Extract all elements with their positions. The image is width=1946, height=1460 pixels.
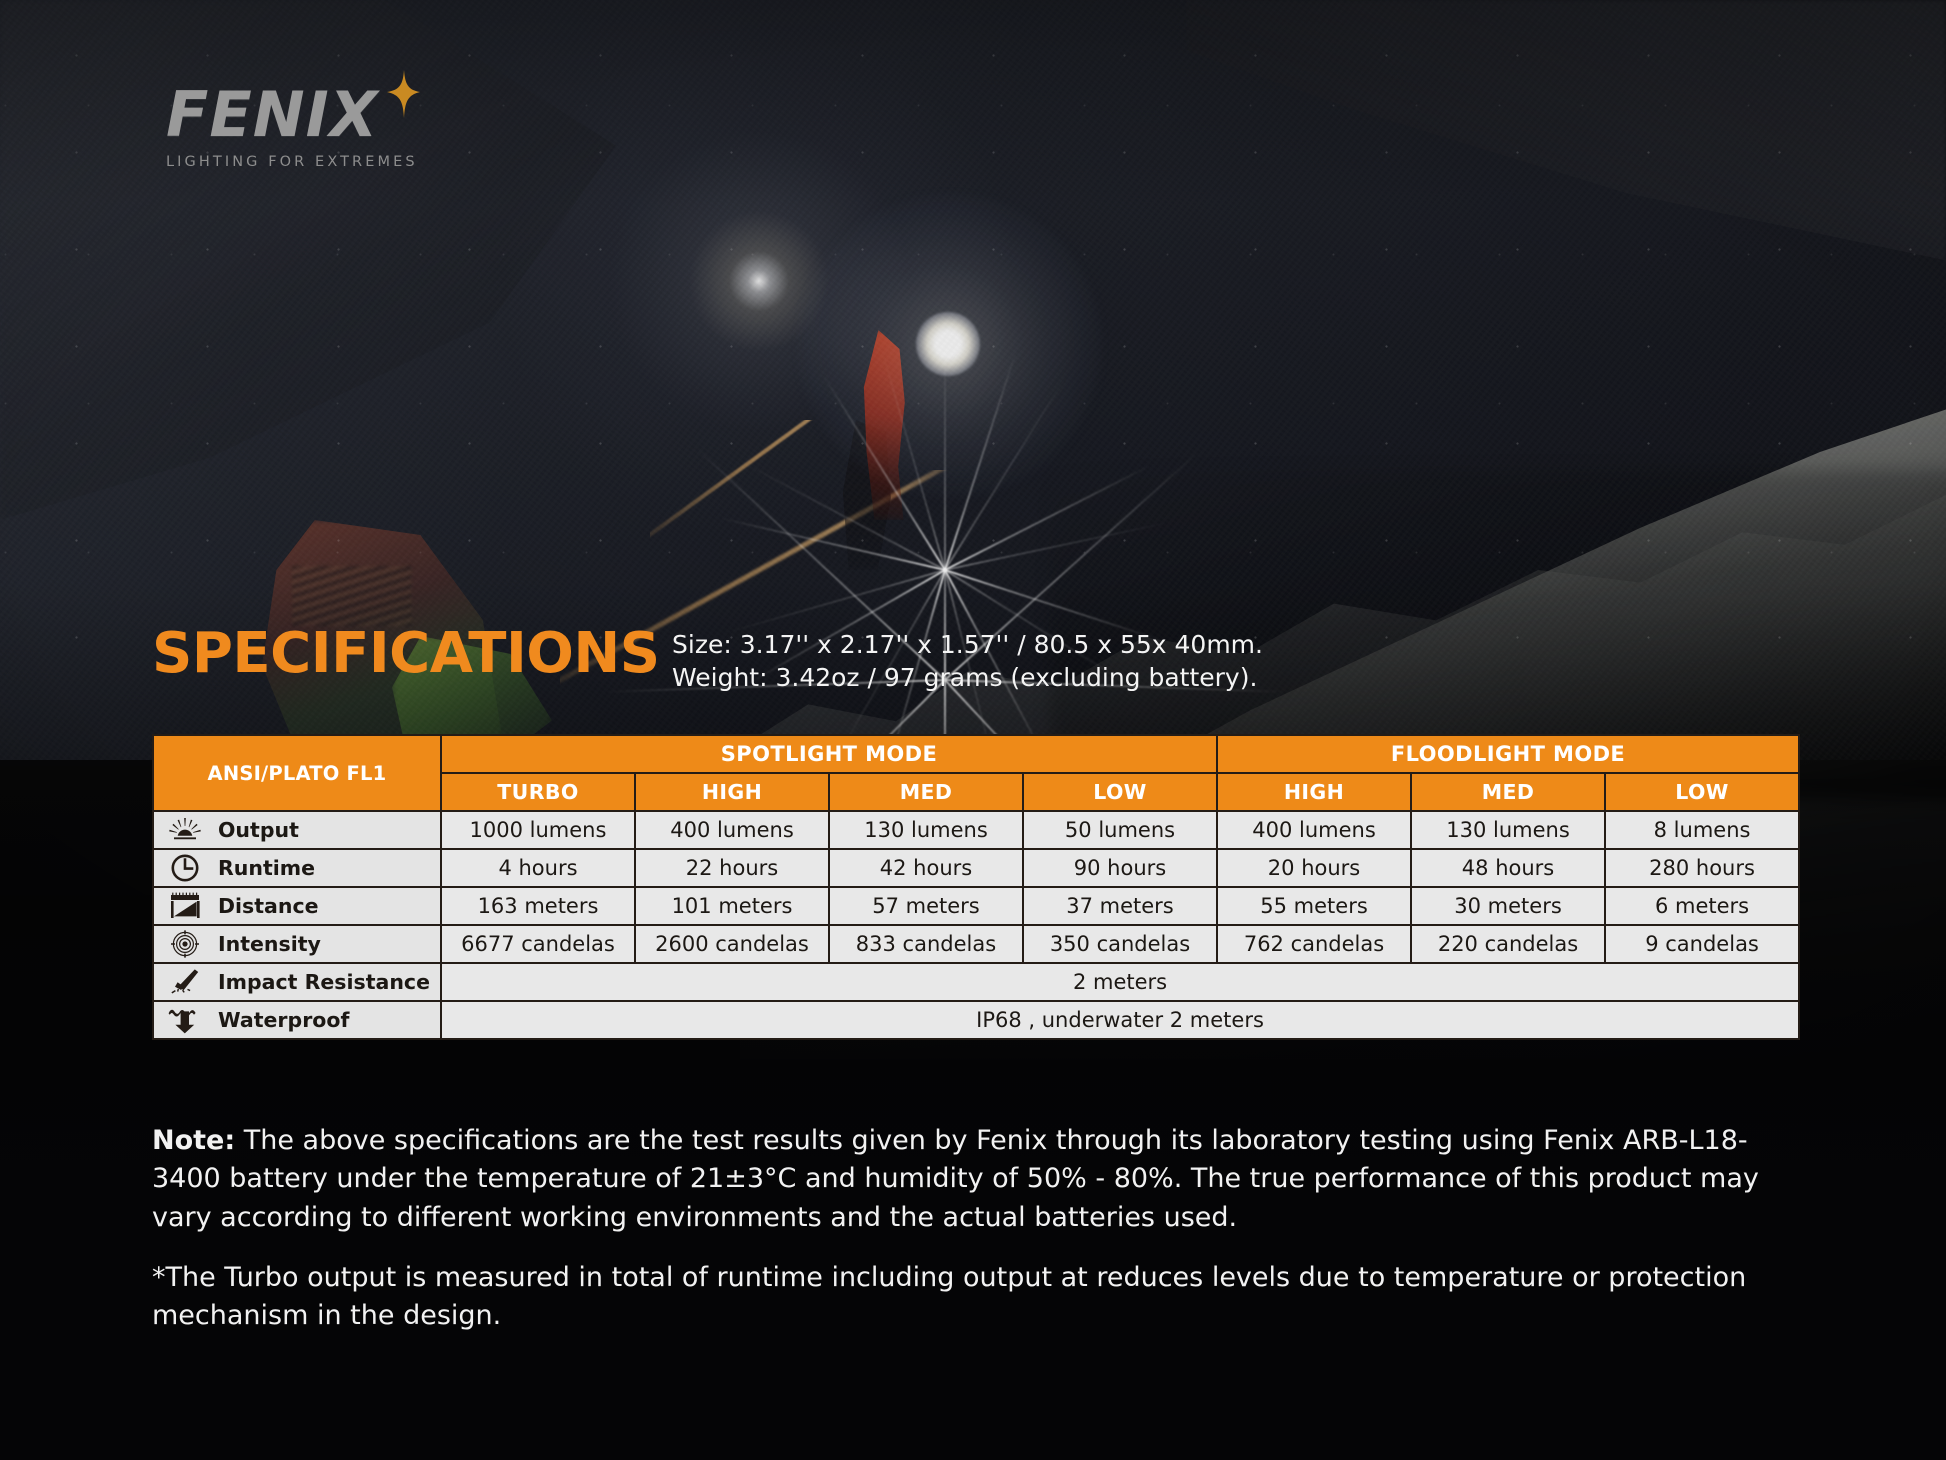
row-label-intensity: Intensity	[153, 925, 441, 963]
mode-header-floodlight-med: MED	[1411, 773, 1605, 811]
weight-line: Weight: 3.42oz / 97 grams (excluding bat…	[672, 661, 1263, 694]
clock-icon	[166, 853, 204, 883]
specifications-table: ANSI/PLATO FL1 SPOTLIGHT MODE FLOODLIGHT…	[152, 734, 1800, 1040]
cell-distance-floodlight-high: 55 meters	[1217, 887, 1411, 925]
cell-distance-spotlight-low: 37 meters	[1023, 887, 1217, 925]
cell-impact-resistance-value: 2 meters	[441, 963, 1799, 1001]
specifications-table-wrap: ANSI/PLATO FL1 SPOTLIGHT MODE FLOODLIGHT…	[152, 734, 1796, 1040]
note-body: The above specifications are the test re…	[152, 1125, 1759, 1233]
group-header-floodlight: FLOODLIGHT MODE	[1217, 735, 1799, 773]
cell-intensity-spotlight-med: 833 candelas	[829, 925, 1023, 963]
table-row: Distance 163 meters 101 meters 57 meters…	[153, 887, 1799, 925]
cell-output-spotlight-low: 50 lumens	[1023, 811, 1217, 849]
mode-header-spotlight-med: MED	[829, 773, 1023, 811]
table-row: Runtime 4 hours 22 hours 42 hours 90 hou…	[153, 849, 1799, 887]
cell-waterproof-value: IP68 , underwater 2 meters	[441, 1001, 1799, 1039]
page-title: SPECIFICATIONS	[152, 626, 660, 682]
mode-header-floodlight-low: LOW	[1605, 773, 1799, 811]
row-label-text: Output	[218, 818, 299, 842]
cell-distance-floodlight-low: 6 meters	[1605, 887, 1799, 925]
page-title-block: SPECIFICATIONS	[152, 626, 660, 682]
size-line: Size: 3.17'' x 2.17'' x 1.57'' / 80.5 x …	[672, 628, 1263, 661]
cell-output-floodlight-low: 8 lumens	[1605, 811, 1799, 849]
group-header-spotlight: SPOTLIGHT MODE	[441, 735, 1217, 773]
note-label: Note:	[152, 1125, 235, 1156]
row-label-waterproof: Waterproof	[153, 1001, 441, 1039]
row-label-text: Waterproof	[218, 1008, 349, 1032]
cell-intensity-floodlight-high: 762 candelas	[1217, 925, 1411, 963]
cell-runtime-spotlight-low: 90 hours	[1023, 849, 1217, 887]
row-label-text: Impact Resistance	[218, 970, 430, 994]
mode-header-spotlight-high: HIGH	[635, 773, 829, 811]
target-icon	[166, 929, 204, 959]
waterproof-icon	[166, 1005, 204, 1035]
beam-distance-icon	[166, 891, 204, 921]
cell-runtime-spotlight-med: 42 hours	[829, 849, 1023, 887]
cell-intensity-floodlight-med: 220 candelas	[1411, 925, 1605, 963]
cell-output-floodlight-med: 130 lumens	[1411, 811, 1605, 849]
specification-page: FENIX LIGHTING FOR EXTREMES SPECIFICATIO…	[0, 0, 1946, 1460]
row-label-runtime: Runtime	[153, 849, 441, 887]
impact-icon	[166, 967, 204, 997]
dimension-summary: Size: 3.17'' x 2.17'' x 1.57'' / 80.5 x …	[672, 628, 1263, 694]
cell-output-spotlight-med: 130 lumens	[829, 811, 1023, 849]
cell-output-floodlight-high: 400 lumens	[1217, 811, 1411, 849]
table-corner-label: ANSI/PLATO FL1	[153, 735, 441, 811]
mode-header-spotlight-turbo: TURBO	[441, 773, 635, 811]
cell-distance-spotlight-high: 101 meters	[635, 887, 829, 925]
cell-runtime-spotlight-high: 22 hours	[635, 849, 829, 887]
cell-intensity-spotlight-turbo: 6677 candelas	[441, 925, 635, 963]
cell-runtime-floodlight-med: 48 hours	[1411, 849, 1605, 887]
cell-intensity-floodlight-low: 9 candelas	[1605, 925, 1799, 963]
cell-distance-floodlight-med: 30 meters	[1411, 887, 1605, 925]
row-label-impact-resistance: Impact Resistance	[153, 963, 441, 1001]
fenix-logo: FENIX LIGHTING FOR EXTREMES	[166, 84, 496, 184]
cell-distance-spotlight-med: 57 meters	[829, 887, 1023, 925]
table-row: Intensity 6677 candelas 2600 candelas 83…	[153, 925, 1799, 963]
cell-intensity-spotlight-high: 2600 candelas	[635, 925, 829, 963]
row-label-text: Distance	[218, 894, 319, 918]
logo-tagline: LIGHTING FOR EXTREMES	[166, 154, 496, 170]
table-row: Output 1000 lumens 400 lumens 130 lumens…	[153, 811, 1799, 849]
row-label-text: Intensity	[218, 932, 321, 956]
footnote-paragraph: *The Turbo output is measured in total o…	[152, 1259, 1812, 1336]
sunburst-icon	[166, 815, 204, 845]
row-label-output: Output	[153, 811, 441, 849]
table-header-groups: ANSI/PLATO FL1 SPOTLIGHT MODE FLOODLIGHT…	[153, 735, 1799, 773]
row-label-distance: Distance	[153, 887, 441, 925]
mode-header-spotlight-low: LOW	[1023, 773, 1217, 811]
table-row: Waterproof IP68 , underwater 2 meters	[153, 1001, 1799, 1039]
table-row: Impact Resistance 2 meters	[153, 963, 1799, 1001]
notes-block: Note: The above specifications are the t…	[152, 1122, 1812, 1336]
row-label-text: Runtime	[218, 856, 315, 880]
note-paragraph: Note: The above specifications are the t…	[152, 1122, 1812, 1237]
cell-distance-spotlight-turbo: 163 meters	[441, 887, 635, 925]
cell-runtime-floodlight-low: 280 hours	[1605, 849, 1799, 887]
cell-runtime-spotlight-turbo: 4 hours	[441, 849, 635, 887]
mode-header-floodlight-high: HIGH	[1217, 773, 1411, 811]
cell-runtime-floodlight-high: 20 hours	[1217, 849, 1411, 887]
cell-output-spotlight-high: 400 lumens	[635, 811, 829, 849]
star-icon	[374, 68, 430, 129]
logo-wordmark: FENIX	[166, 84, 496, 146]
cell-output-spotlight-turbo: 1000 lumens	[441, 811, 635, 849]
cell-intensity-spotlight-low: 350 candelas	[1023, 925, 1217, 963]
